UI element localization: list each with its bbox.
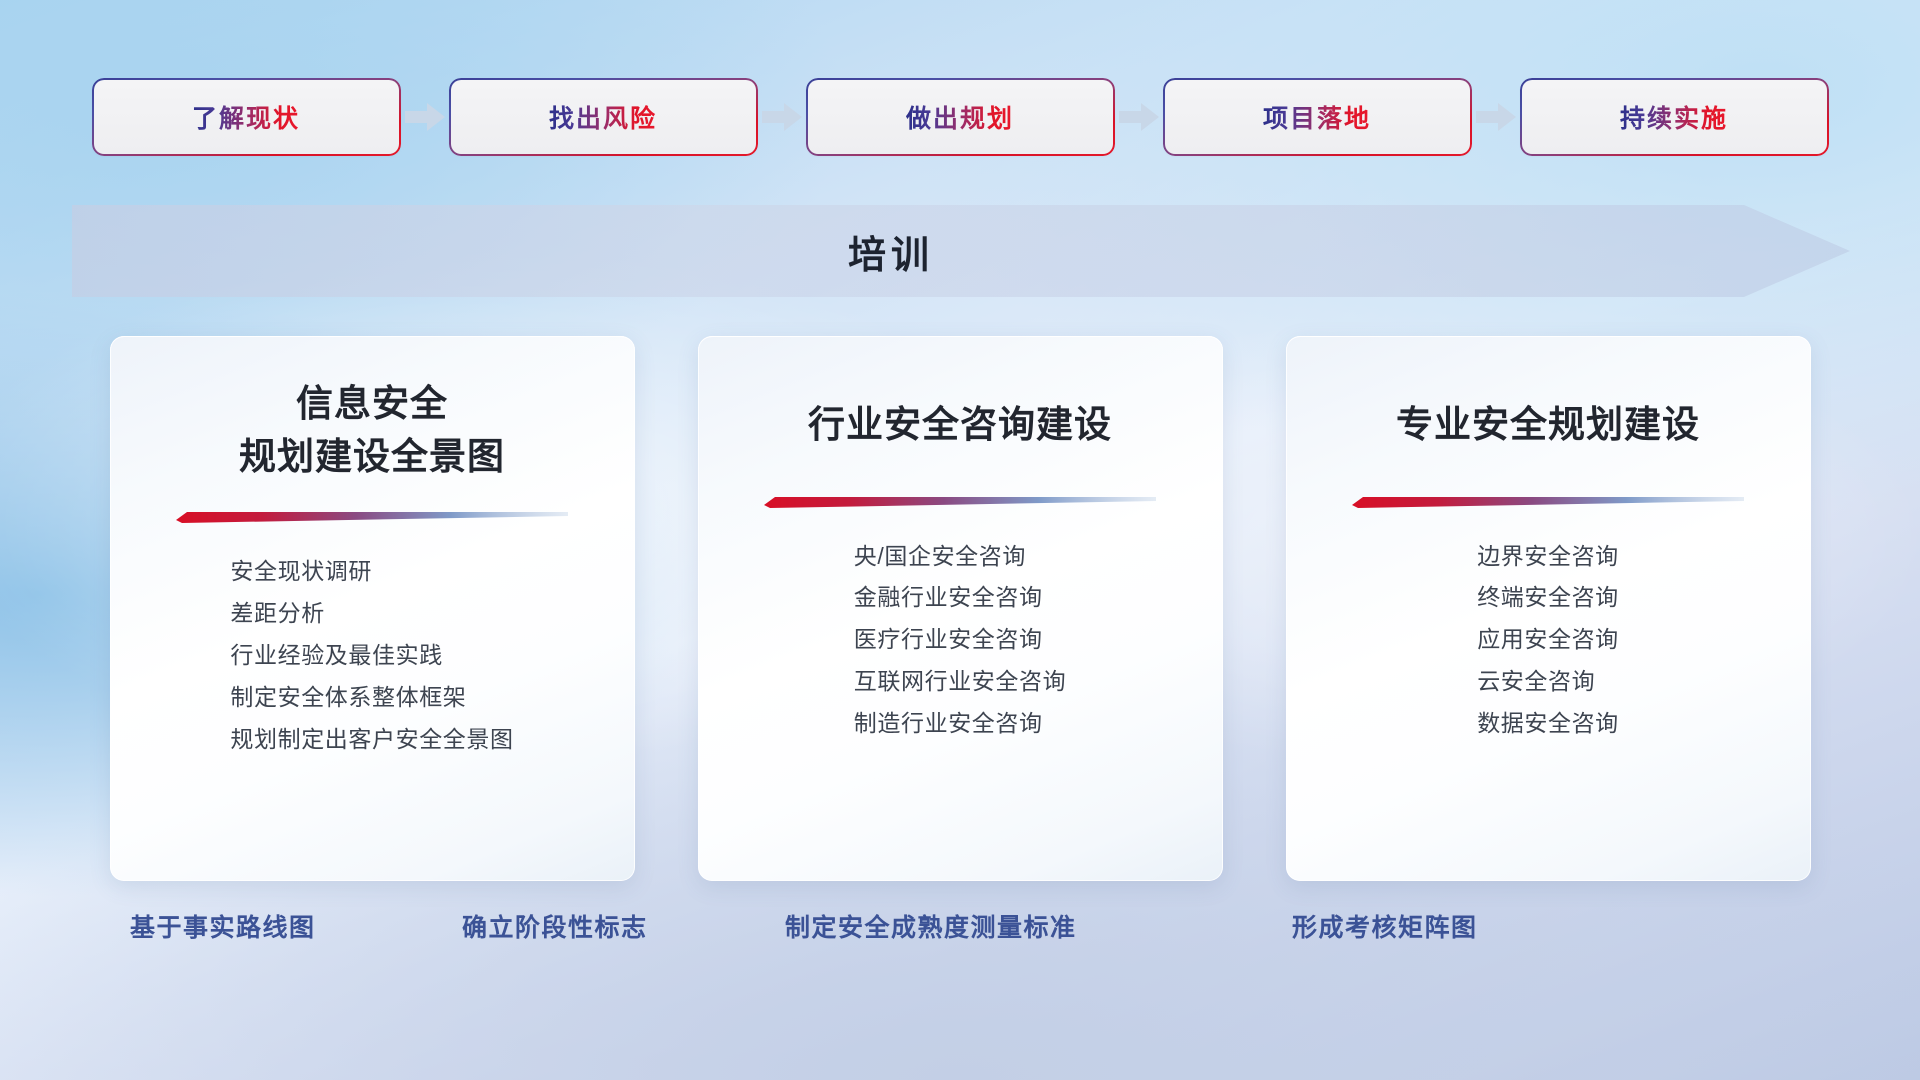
- arrow-right-icon: [756, 80, 808, 154]
- list-item: 金融行业安全咨询: [854, 577, 1066, 619]
- card-industry-consulting[interactable]: 行业安全咨询建设 央/国企安全咨询 金融行业安全咨询 医疗行业安全咨询 互联网行…: [698, 336, 1223, 881]
- list-item: 制定安全体系整体框架: [230, 677, 513, 719]
- flow-step-3[interactable]: 做出规划: [808, 80, 1113, 154]
- card-title: 信息安全 规划建设全景图: [239, 378, 505, 483]
- caption-roadmap: 基于事实路线图: [130, 908, 316, 944]
- flow-step-2[interactable]: 找出风险: [451, 80, 756, 154]
- arrow-right-icon: [1470, 80, 1522, 154]
- process-flow: 了解现状 找出风险 做出规划 项目落地 持续实施: [0, 78, 1920, 156]
- list-item: 数据安全咨询: [1477, 703, 1619, 745]
- caption-row: 基于事实路线图 确立阶段性标志 制定安全成熟度测量标准 形成考核矩阵图: [0, 908, 1920, 968]
- flow-step-label: 了解现状: [192, 99, 300, 135]
- caption-maturity: 制定安全成熟度测量标准: [785, 908, 1077, 944]
- gradient-divider-icon: [1352, 494, 1744, 510]
- card-item-list: 安全现状调研 差距分析 行业经验及最佳实践 制定安全体系整体框架 规划制定出客户…: [230, 551, 513, 760]
- list-item: 制造行业安全咨询: [854, 703, 1066, 745]
- card-title: 专业安全规划建设: [1396, 399, 1700, 452]
- caption-milestone: 确立阶段性标志: [462, 908, 648, 944]
- list-item: 互联网行业安全咨询: [854, 661, 1066, 703]
- arrow-right-icon: [399, 80, 451, 154]
- list-item: 央/国企安全咨询: [854, 536, 1066, 578]
- flow-step-1[interactable]: 了解现状: [94, 80, 399, 154]
- flow-step-label: 持续实施: [1620, 99, 1728, 135]
- list-item: 差距分析: [230, 593, 513, 635]
- flow-step-5[interactable]: 持续实施: [1522, 80, 1827, 154]
- card-item-list: 央/国企安全咨询 金融行业安全咨询 医疗行业安全咨询 互联网行业安全咨询 制造行…: [854, 536, 1066, 745]
- list-item: 应用安全咨询: [1477, 619, 1619, 661]
- list-item: 规划制定出客户安全全景图: [230, 719, 513, 761]
- arrow-right-icon: [1113, 80, 1165, 154]
- caption-matrix: 形成考核矩阵图: [1292, 908, 1478, 944]
- card-security-overview[interactable]: 信息安全 规划建设全景图 安全现状调研 差距分析 行业经验及最佳实践 制定安全体…: [110, 336, 635, 881]
- list-item: 边界安全咨询: [1477, 536, 1619, 578]
- training-banner: 培训: [72, 205, 1850, 297]
- card-row: 信息安全 规划建设全景图 安全现状调研 差距分析 行业经验及最佳实践 制定安全体…: [0, 336, 1920, 881]
- gradient-divider-icon: [764, 494, 1156, 510]
- list-item: 云安全咨询: [1477, 661, 1619, 703]
- card-title: 行业安全咨询建设: [808, 399, 1112, 452]
- list-item: 行业经验及最佳实践: [230, 635, 513, 677]
- flow-step-4[interactable]: 项目落地: [1165, 80, 1470, 154]
- flow-step-label: 找出风险: [549, 99, 657, 135]
- list-item: 安全现状调研: [230, 551, 513, 593]
- list-item: 终端安全咨询: [1477, 577, 1619, 619]
- card-professional-planning[interactable]: 专业安全规划建设 边界安全咨询 终端安全咨询 应用安全咨询 云安全咨询 数据安全…: [1286, 336, 1811, 881]
- card-title-line1: 专业安全规划建设: [1396, 399, 1700, 452]
- card-item-list: 边界安全咨询 终端安全咨询 应用安全咨询 云安全咨询 数据安全咨询: [1477, 536, 1619, 745]
- flow-step-label: 做出规划: [906, 99, 1014, 135]
- card-title-line1: 信息安全: [239, 378, 505, 431]
- list-item: 医疗行业安全咨询: [854, 619, 1066, 661]
- card-title-line1: 行业安全咨询建设: [808, 399, 1112, 452]
- training-banner-label: 培训: [72, 205, 1850, 297]
- flow-step-label: 项目落地: [1263, 99, 1371, 135]
- card-title-line2: 规划建设全景图: [239, 431, 505, 484]
- gradient-divider-icon: [176, 509, 568, 525]
